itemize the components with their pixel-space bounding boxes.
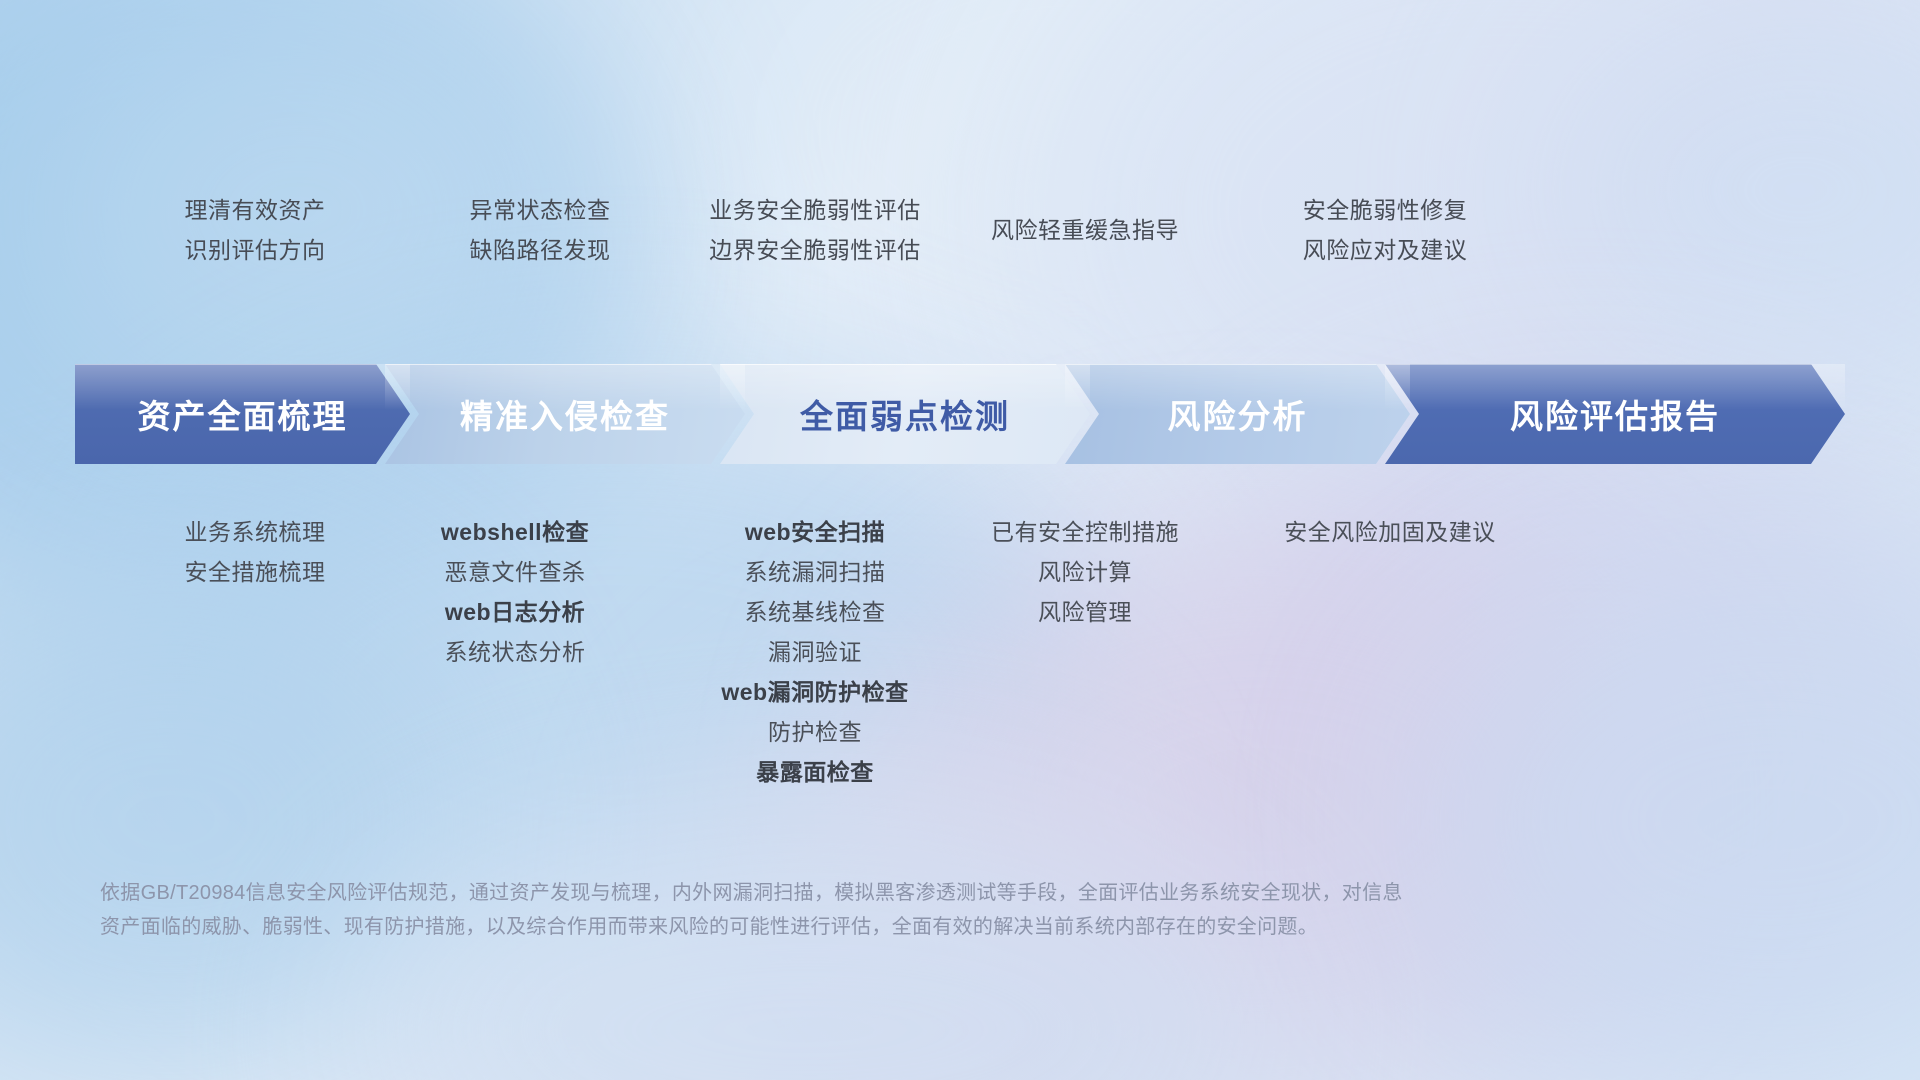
process-diagram: 理清有效资产 识别评估方向 异常状态检查 缺陷路径发现 业务安全脆弱性评估 边界…	[0, 0, 1920, 1080]
chevron-step-risk-analysis[interactable]: 风险分析	[1065, 364, 1410, 464]
bottom-list-report: 安全风险加固及建议	[1140, 512, 1640, 552]
chevron-label: 风险分析	[1168, 390, 1308, 438]
list-item: 安全风险加固及建议	[1140, 512, 1640, 552]
footer-description: 依据GB/T20984信息安全风险评估规范，通过资产发现与梳理，内外网漏洞扫描，…	[100, 876, 1660, 944]
list-item: 防护检查	[575, 712, 1055, 752]
chevron-label: 资产全面梳理	[138, 390, 348, 438]
footer-line-1: 依据GB/T20984信息安全风险评估规范，通过资产发现与梳理，内外网漏洞扫描，…	[100, 876, 1660, 910]
chevron-label: 精准入侵检查	[460, 390, 670, 438]
chevron-step-intrusion[interactable]: 精准入侵检查	[385, 364, 745, 464]
chevron-step-asset[interactable]: 资产全面梳理	[75, 364, 410, 464]
footer-line-2: 资产面临的威胁、脆弱性、现有防护措施，以及综合作用而带来风险的可能性进行评估，全…	[100, 910, 1660, 944]
chevron-step-report[interactable]: 风险评估报告	[1385, 364, 1845, 464]
chevron-label: 风险评估报告	[1510, 390, 1720, 438]
list-item: 暴露面检查	[575, 752, 1055, 792]
list-item: 漏洞验证	[575, 632, 1055, 672]
list-item: 风险管理	[845, 592, 1325, 632]
list-item: web漏洞防护检查	[575, 672, 1055, 712]
top-note: 安全脆弱性修复	[1145, 190, 1625, 230]
chevron-step-weakness[interactable]: 全面弱点检测	[720, 364, 1090, 464]
top-note: 风险应对及建议	[1145, 230, 1625, 270]
list-item: 风险计算	[845, 552, 1325, 592]
chevron-label: 全面弱点检测	[800, 390, 1010, 438]
top-notes-report: 安全脆弱性修复 风险应对及建议	[1145, 190, 1625, 270]
chevron-band: 资产全面梳理 精准入侵检查 全面弱点检测 风险分析 风险评估报告	[75, 364, 1845, 464]
